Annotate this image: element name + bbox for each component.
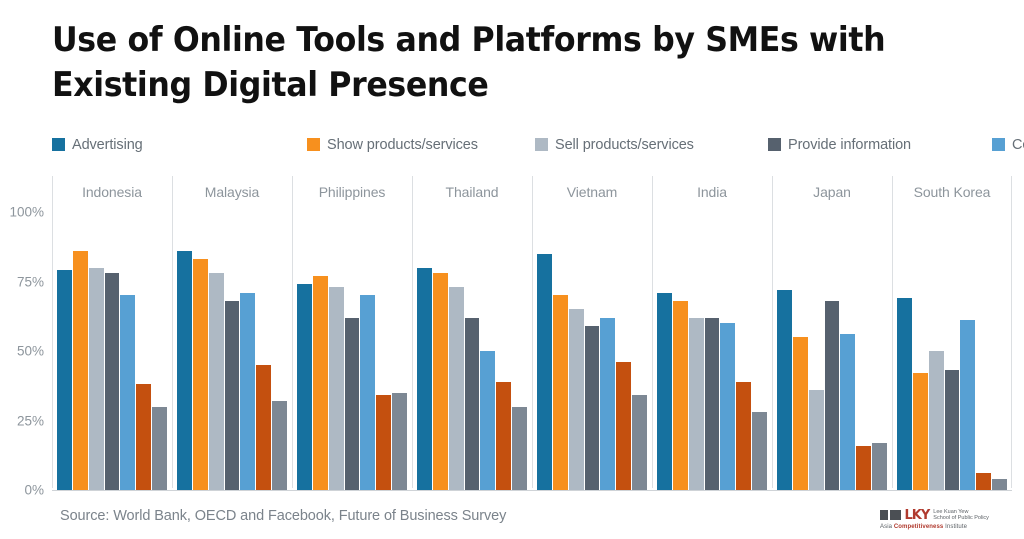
bar[interactable] bbox=[809, 390, 824, 490]
logo-institute-line: Asia Competitiveness Institute bbox=[880, 524, 1008, 530]
bar[interactable] bbox=[897, 298, 912, 490]
logo-text-lines: Lee Kuan Yew School of Public Policy bbox=[933, 509, 989, 521]
y-axis-tick: 100% bbox=[9, 205, 44, 220]
bar[interactable] bbox=[825, 301, 840, 490]
source-note: Source: World Bank, OECD and Facebook, F… bbox=[60, 508, 506, 524]
legend-item[interactable]: Sell products/services bbox=[535, 137, 768, 153]
legend-item[interactable]: Communication bbox=[992, 137, 1024, 153]
bar[interactable] bbox=[345, 318, 360, 490]
chart-page: Use of Online Tools and Platforms by SME… bbox=[0, 0, 1024, 539]
bar[interactable] bbox=[720, 323, 735, 490]
bar[interactable] bbox=[193, 259, 208, 490]
legend-swatch-icon bbox=[535, 138, 548, 151]
bar[interactable] bbox=[689, 318, 704, 490]
y-axis: 0%25%50%75%100% bbox=[0, 178, 52, 503]
legend-swatch-icon bbox=[52, 138, 65, 151]
category-label: Philippines bbox=[292, 178, 412, 206]
legend-item[interactable]: Show products/services bbox=[307, 137, 535, 153]
bar[interactable] bbox=[657, 293, 672, 490]
bar[interactable] bbox=[600, 318, 615, 490]
bar[interactable] bbox=[89, 268, 104, 490]
bar[interactable] bbox=[177, 251, 192, 490]
bar[interactable] bbox=[585, 326, 600, 490]
bar[interactable] bbox=[976, 473, 991, 490]
y-axis-tick: 0% bbox=[24, 483, 44, 498]
bar[interactable] bbox=[417, 268, 432, 490]
bar[interactable] bbox=[465, 318, 480, 490]
bar[interactable] bbox=[777, 290, 792, 490]
logo-top-row: LKY Lee Kuan Yew School of Public Policy bbox=[880, 509, 1008, 522]
bar[interactable] bbox=[512, 407, 527, 490]
legend-label: Show products/services bbox=[327, 137, 478, 153]
category-label: India bbox=[652, 178, 772, 206]
aci-logo: LKY Lee Kuan Yew School of Public Policy… bbox=[880, 503, 1008, 535]
page-title: Use of Online Tools and Platforms by SME… bbox=[52, 18, 889, 108]
category-label: Thailand bbox=[412, 178, 532, 206]
bar[interactable] bbox=[152, 407, 167, 490]
logo-line-2: School of Public Policy bbox=[933, 515, 989, 521]
category-label: Japan bbox=[772, 178, 892, 206]
bar-group bbox=[532, 212, 652, 490]
bar[interactable] bbox=[752, 412, 767, 490]
chart-legend: AdvertisingShow products/servicesSell pr… bbox=[52, 134, 992, 155]
legend-swatch-icon bbox=[307, 138, 320, 151]
bar[interactable] bbox=[840, 334, 855, 490]
bar[interactable] bbox=[136, 384, 151, 490]
bar[interactable] bbox=[496, 382, 511, 490]
bar[interactable] bbox=[480, 351, 495, 490]
bar-group bbox=[52, 212, 172, 490]
bar-group bbox=[292, 212, 412, 490]
logo-blocks-icon bbox=[880, 510, 901, 520]
bar-group bbox=[892, 212, 1012, 490]
bar[interactable] bbox=[105, 273, 120, 490]
bar[interactable] bbox=[929, 351, 944, 490]
bar[interactable] bbox=[793, 337, 808, 490]
bar-group bbox=[772, 212, 892, 490]
legend-label: Provide information bbox=[788, 137, 911, 153]
bar[interactable] bbox=[872, 443, 887, 490]
bar[interactable] bbox=[449, 287, 464, 490]
bars-region bbox=[52, 212, 1012, 490]
bar[interactable] bbox=[329, 287, 344, 490]
bar[interactable] bbox=[433, 273, 448, 490]
bar-group bbox=[172, 212, 292, 490]
bar[interactable] bbox=[632, 395, 647, 490]
bar[interactable] bbox=[616, 362, 631, 490]
bar[interactable] bbox=[120, 295, 135, 490]
category-label: Malaysia bbox=[172, 178, 292, 206]
logo-line-3-suffix: Institute bbox=[945, 524, 967, 530]
y-axis-tick: 50% bbox=[17, 344, 44, 359]
bar[interactable] bbox=[945, 370, 960, 490]
bar[interactable] bbox=[57, 270, 72, 490]
bar[interactable] bbox=[569, 309, 584, 490]
category-axis: IndonesiaMalaysiaPhilippinesThailandViet… bbox=[52, 178, 1012, 206]
bar[interactable] bbox=[240, 293, 255, 490]
category-label: South Korea bbox=[892, 178, 1012, 206]
bar[interactable] bbox=[209, 273, 224, 490]
category-label: Indonesia bbox=[52, 178, 172, 206]
legend-label: Advertising bbox=[72, 137, 143, 153]
bar[interactable] bbox=[856, 446, 871, 490]
bar[interactable] bbox=[225, 301, 240, 490]
bar[interactable] bbox=[705, 318, 720, 490]
bar[interactable] bbox=[73, 251, 88, 490]
bar[interactable] bbox=[392, 393, 407, 490]
bar[interactable] bbox=[376, 395, 391, 490]
bar[interactable] bbox=[736, 382, 751, 490]
y-axis-tick: 75% bbox=[17, 274, 44, 289]
axis-baseline bbox=[52, 490, 1012, 491]
logo-ky-mark: LKY bbox=[905, 509, 930, 522]
logo-line-3-prefix: Asia bbox=[880, 524, 894, 530]
legend-swatch-icon bbox=[768, 138, 781, 151]
bar[interactable] bbox=[913, 373, 928, 490]
logo-line-3-bold: Competitiveness bbox=[894, 524, 945, 530]
bar[interactable] bbox=[297, 284, 312, 490]
legend-swatch-icon bbox=[992, 138, 1005, 151]
bar[interactable] bbox=[537, 254, 552, 490]
bar[interactable] bbox=[553, 295, 568, 490]
y-axis-tick: 25% bbox=[17, 413, 44, 428]
category-label: Vietnam bbox=[532, 178, 652, 206]
bar[interactable] bbox=[960, 320, 975, 490]
bar[interactable] bbox=[313, 276, 328, 490]
bar[interactable] bbox=[673, 301, 688, 490]
bar[interactable] bbox=[256, 365, 271, 490]
bar[interactable] bbox=[272, 401, 287, 490]
bar[interactable] bbox=[992, 479, 1007, 490]
plot-area: 0%25%50%75%100% IndonesiaMalaysiaPhilipp… bbox=[0, 178, 1024, 503]
legend-item[interactable]: Provide information bbox=[768, 137, 992, 153]
bar-group bbox=[412, 212, 532, 490]
bar[interactable] bbox=[360, 295, 375, 490]
bar-group bbox=[652, 212, 772, 490]
legend-item[interactable]: Advertising bbox=[52, 137, 307, 153]
legend-label: Sell products/services bbox=[555, 137, 694, 153]
legend-label: Communication bbox=[1012, 137, 1024, 153]
